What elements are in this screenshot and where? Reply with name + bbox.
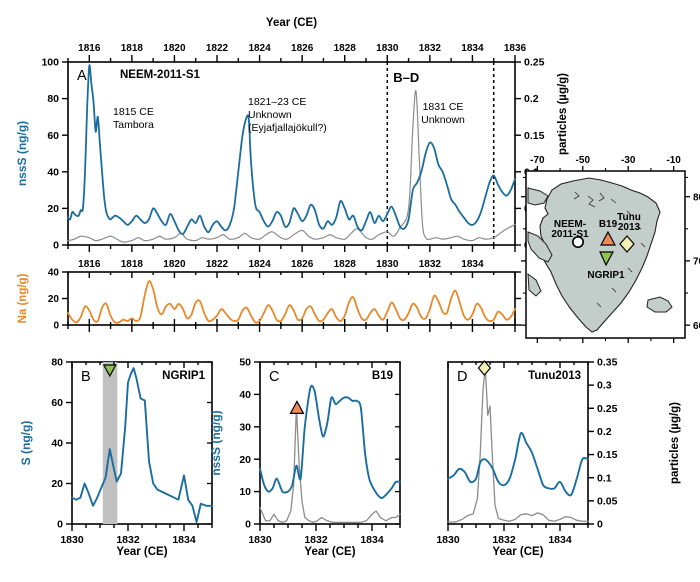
panel-na-tick-label: 40 [48,268,60,279]
panel-a-top-tick-label: 1818 [121,43,144,54]
panel-c-ytick-label: 50 [239,357,251,369]
panel-d-letter: D [457,369,467,385]
panel-c-ytick-label: 40 [239,389,251,401]
panel-a-annotation-2-line2: Unknown [248,109,292,121]
panel-na-xtick-label: 1824 [248,259,271,270]
panel-a-top-tick-label: 1832 [419,43,442,54]
map-site-neem-label-line2: 2011-S1 [551,229,589,240]
panel-na-xtick-label: 1816 [78,259,101,270]
panel-na-xtick-label: 1818 [121,259,144,270]
panel-b-ylabel: S (ng/g) [19,421,33,466]
panel-c-ytick-label: 30 [239,421,251,433]
panel-a-annotation-1-line1: 1815 CE [113,106,154,118]
panel-c-xlabel: Year (CE) [304,546,355,558]
panel-b-record-label: NGRIP1 [162,370,205,382]
panel-b-ytick-label: 0 [57,519,63,531]
map-site-ngrip-label: NGRIP1 [587,270,625,281]
panel-b-xtick-label: 1834 [172,534,196,546]
panel-c-ytick-label: 20 [239,454,251,466]
panel-a-top-tick-label: 1836 [504,43,527,54]
panel-a-ylabel-right: particles (µg/g) [557,73,569,155]
panel-a-top-tick-label: 1820 [163,43,186,54]
panel-b-ytick-label: 80 [51,357,63,369]
panel-a-top-tick-label: 1826 [291,43,314,54]
panel-a-top-tick-label: 1824 [248,43,271,54]
panel-d-ytick-label: 0.15 [597,449,618,461]
panel-na-xtick-label: 1826 [291,259,314,270]
panel-b-letter: B [81,369,91,385]
panel-na-xtick-label: 1820 [163,259,186,270]
panel-d-ytick-label: 0.05 [597,495,618,507]
map-lat-tick-label: 70 [693,257,700,268]
panel-a-annotation-1-line2: Tambora [113,119,154,131]
panel-d-ytick-label: 0.3 [597,380,612,392]
panel-na-xtick-label: 1828 [334,259,357,270]
panel-c-record-label: B19 [372,370,393,382]
panel-a-left-tick-label: 20 [47,203,59,215]
panel-na-xtick-label: 1822 [206,259,229,270]
panel-a-letter: A [77,68,87,84]
panel-c-ytick-label: 10 [239,486,251,498]
panel-a-ylabel-left: nssS (ng/g) [15,121,29,186]
panel-c-letter: C [269,369,279,385]
panel-d-ylabel-right: particles (µg/g) [669,402,681,484]
panel-d-ytick-label: 0.25 [597,403,618,415]
panel-b-frame [72,362,212,524]
map-lon-tick-label: -10 [666,155,681,166]
figure-canvas: Year (CE)1816181818201822182418261828183… [0,0,700,582]
map-lon-tick-label: -50 [576,155,591,166]
map-site-tunu-label-line2: 2013 [618,222,641,233]
panel-a-top-tick-label: 1830 [376,43,399,54]
map-site-b19-label: B19 [599,219,618,230]
panel-na-frame [68,272,515,325]
panel-d-ytick-label: 0.1 [597,472,612,484]
map-lat-tick-label: 60 [693,321,700,332]
figure-root: Year (CE)1816181818201822182418261828183… [0,0,700,582]
panel-a-right-tick-label: 0.25 [524,57,545,69]
panel-b-ytick-label: 20 [51,478,63,490]
panel-c-xtick-label: 1830 [248,534,272,546]
panel-a-record-label: NEEM-2011-S1 [120,69,201,81]
panel-d-ytick-label: 0.2 [597,426,612,438]
panel-d-ytick-label: 0 [597,519,603,531]
panel-a-left-tick-label: 40 [47,166,59,178]
panel-d-xlabel: Year (CE) [492,546,543,558]
panel-na-xtick-label: 1834 [461,259,484,270]
panel-a-annotation-2-line1: 1821–23 CE [248,96,306,108]
panel-a-right-tick-label: 0.15 [524,130,545,142]
panel-c-ylabel: nssS (ng/g) [209,410,223,475]
panel-a-left-tick-label: 60 [47,130,59,142]
panel-c-ytick-label: 0 [245,519,251,531]
map-lon-tick-label: -30 [621,155,636,166]
panel-a-annotation-3-line1: 1831 CE [423,101,464,113]
panel-d-xtick-label: 1834 [548,534,572,546]
panel-d-xtick-label: 1832 [492,534,516,546]
panel-b-ytick-label: 60 [51,397,63,409]
panel-na-xtick-label: 1830 [376,259,399,270]
panel-b-ytick-label: 40 [51,438,63,450]
panel-a-annotation-3-line2: Unknown [421,114,465,126]
panel-na-xtick-label: 1832 [419,259,442,270]
panel-b-xlabel: Year (CE) [116,546,167,558]
panel-a-bd-label: B–D [393,70,419,85]
panel-a-right-tick-label: 0.2 [524,93,539,105]
panel-na-ylabel: Na (ng/g) [17,273,29,323]
panel-b-highlight-band [103,362,118,524]
panel-d-record-label: Tunu2013 [528,370,581,382]
panel-a-left-tick-label: 0 [53,240,59,252]
panel-a-left-tick-label: 80 [47,93,59,105]
panel-a-top-tick-label: 1834 [461,43,484,54]
panel-a-top-tick-label: 1822 [206,43,229,54]
panel-a-top-tick-label: 1828 [334,43,357,54]
panel-na-tick-label: 20 [48,294,60,305]
panel-b-xtick-label: 1830 [60,534,84,546]
map-lat-tick-label: 80 [693,192,700,203]
map-lon-tick-label: -70 [530,155,545,166]
panel-a-top-axis-title: Year (CE) [266,17,317,29]
panel-c-xtick-label: 1834 [360,534,384,546]
panel-a-annotation-2-line3: (Eyjafjallajökull?) [248,122,327,134]
panel-c-xtick-label: 1832 [304,534,328,546]
panel-c-frame [260,362,400,524]
panel-a-left-tick-label: 100 [41,57,59,69]
panel-a-top-tick-label: 1816 [78,43,101,54]
panel-d-xtick-label-first: 1830 [436,534,460,546]
panel-na-tick-label: 0 [53,321,59,332]
panel-d-ytick-label: 0.35 [597,357,618,369]
panel-b-xtick-label: 1832 [116,534,140,546]
